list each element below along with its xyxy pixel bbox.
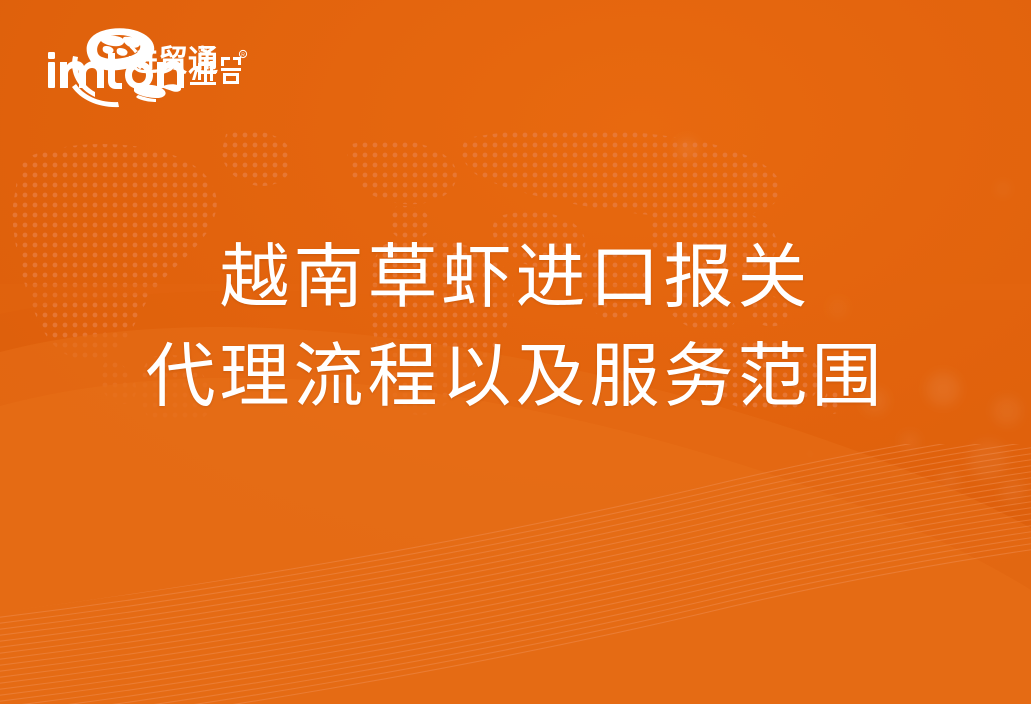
promo-banner: R 进贸通 imton ® 越南草虾进口报关 代理流程以及服务范围 bbox=[0, 0, 1031, 704]
brand-chinese-name: 进贸通 bbox=[128, 45, 206, 79]
trademark-symbol: ® bbox=[197, 44, 208, 55]
title-line-1: 越南草虾进口报关 bbox=[0, 228, 1031, 327]
title-line-2: 代理流程以及服务范围 bbox=[0, 327, 1031, 426]
page-title: 越南草虾进口报关 代理流程以及服务范围 bbox=[0, 228, 1031, 427]
svg-text:R: R bbox=[241, 52, 245, 58]
